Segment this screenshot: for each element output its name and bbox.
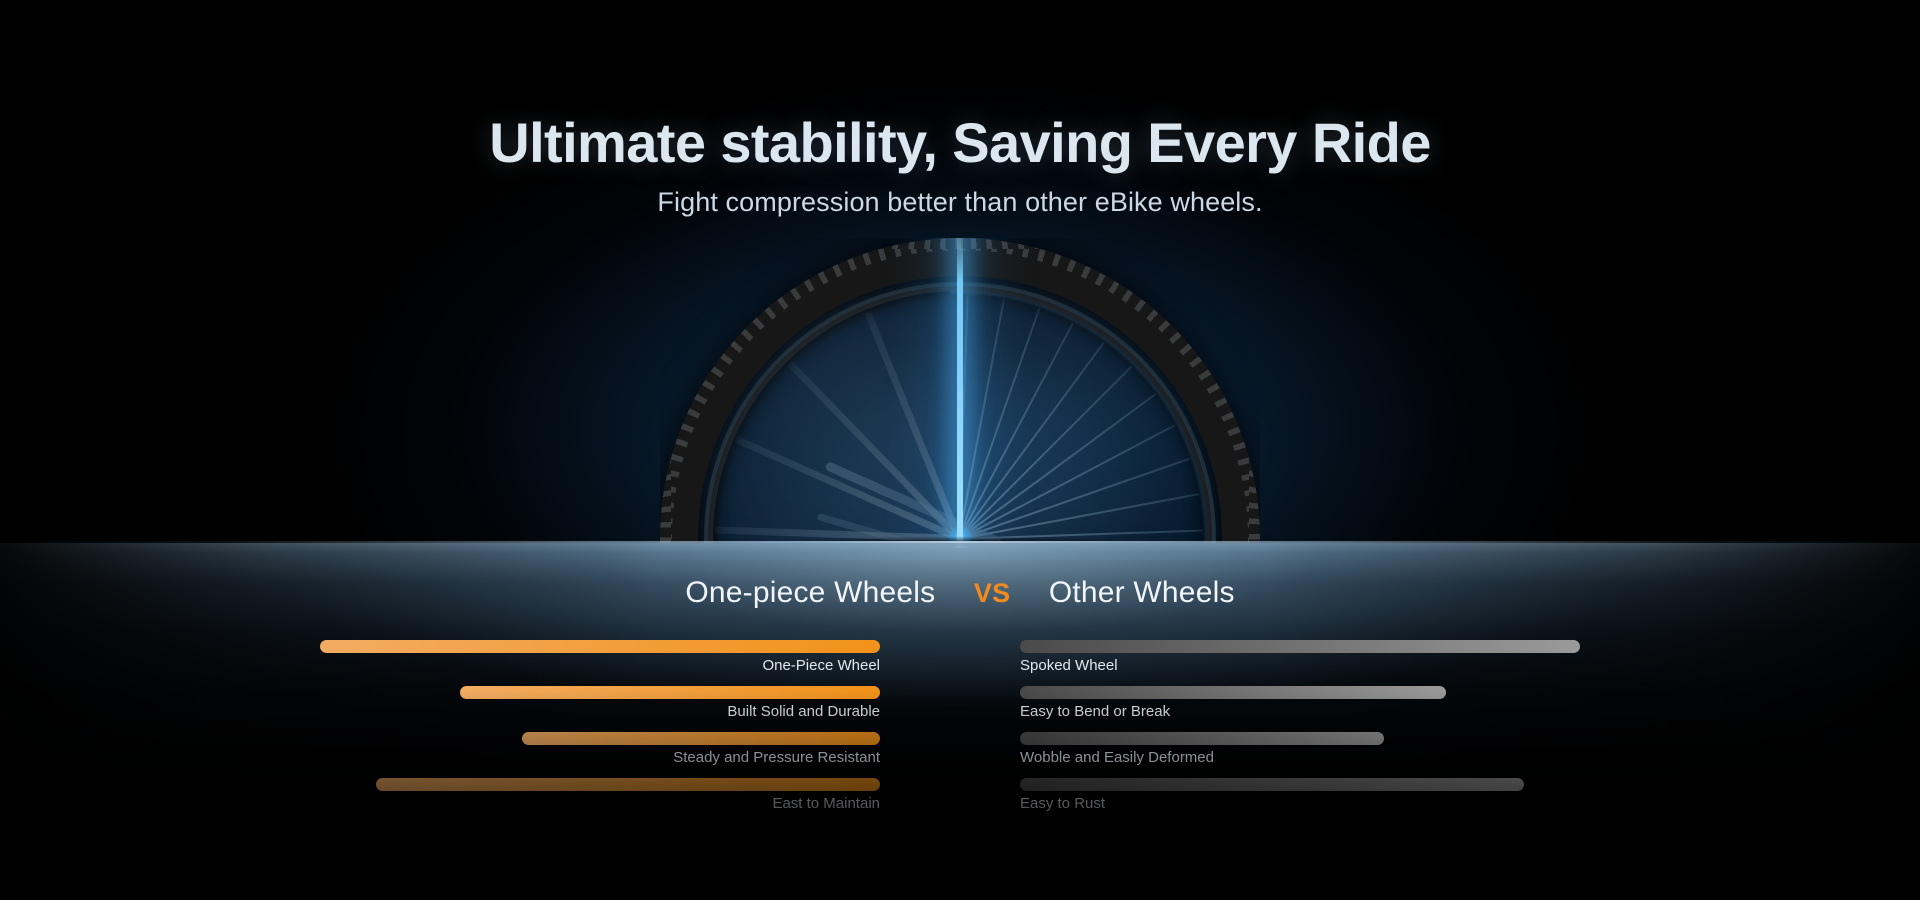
page-subtitle: Fight compression better than other eBik… <box>0 187 1920 218</box>
bike-wheel-illustration <box>660 238 1260 548</box>
scan-divider-line <box>957 238 963 548</box>
comparison-bar <box>320 640 880 653</box>
promo-stage: Ultimate stability, Saving Every Ride Fi… <box>0 0 1920 900</box>
bottom-vignette <box>0 690 1920 900</box>
comparison-bar-label: One-Piece Wheel <box>762 657 880 674</box>
versus-right-label: Other Wheels <box>1049 576 1235 609</box>
page-title: Ultimate stability, Saving Every Ride <box>0 110 1920 175</box>
comparison-bar-label: Spoked Wheel <box>1020 657 1118 674</box>
versus-header: One-piece Wheels VS Other Wheels <box>0 576 1920 610</box>
comparison-row: Spoked Wheel <box>1020 640 1580 686</box>
comparison-bar <box>1020 640 1580 653</box>
versus-badge: VS <box>974 578 1010 608</box>
comparison-row: One-Piece Wheel <box>320 640 880 686</box>
versus-left-label: One-piece Wheels <box>685 576 935 609</box>
